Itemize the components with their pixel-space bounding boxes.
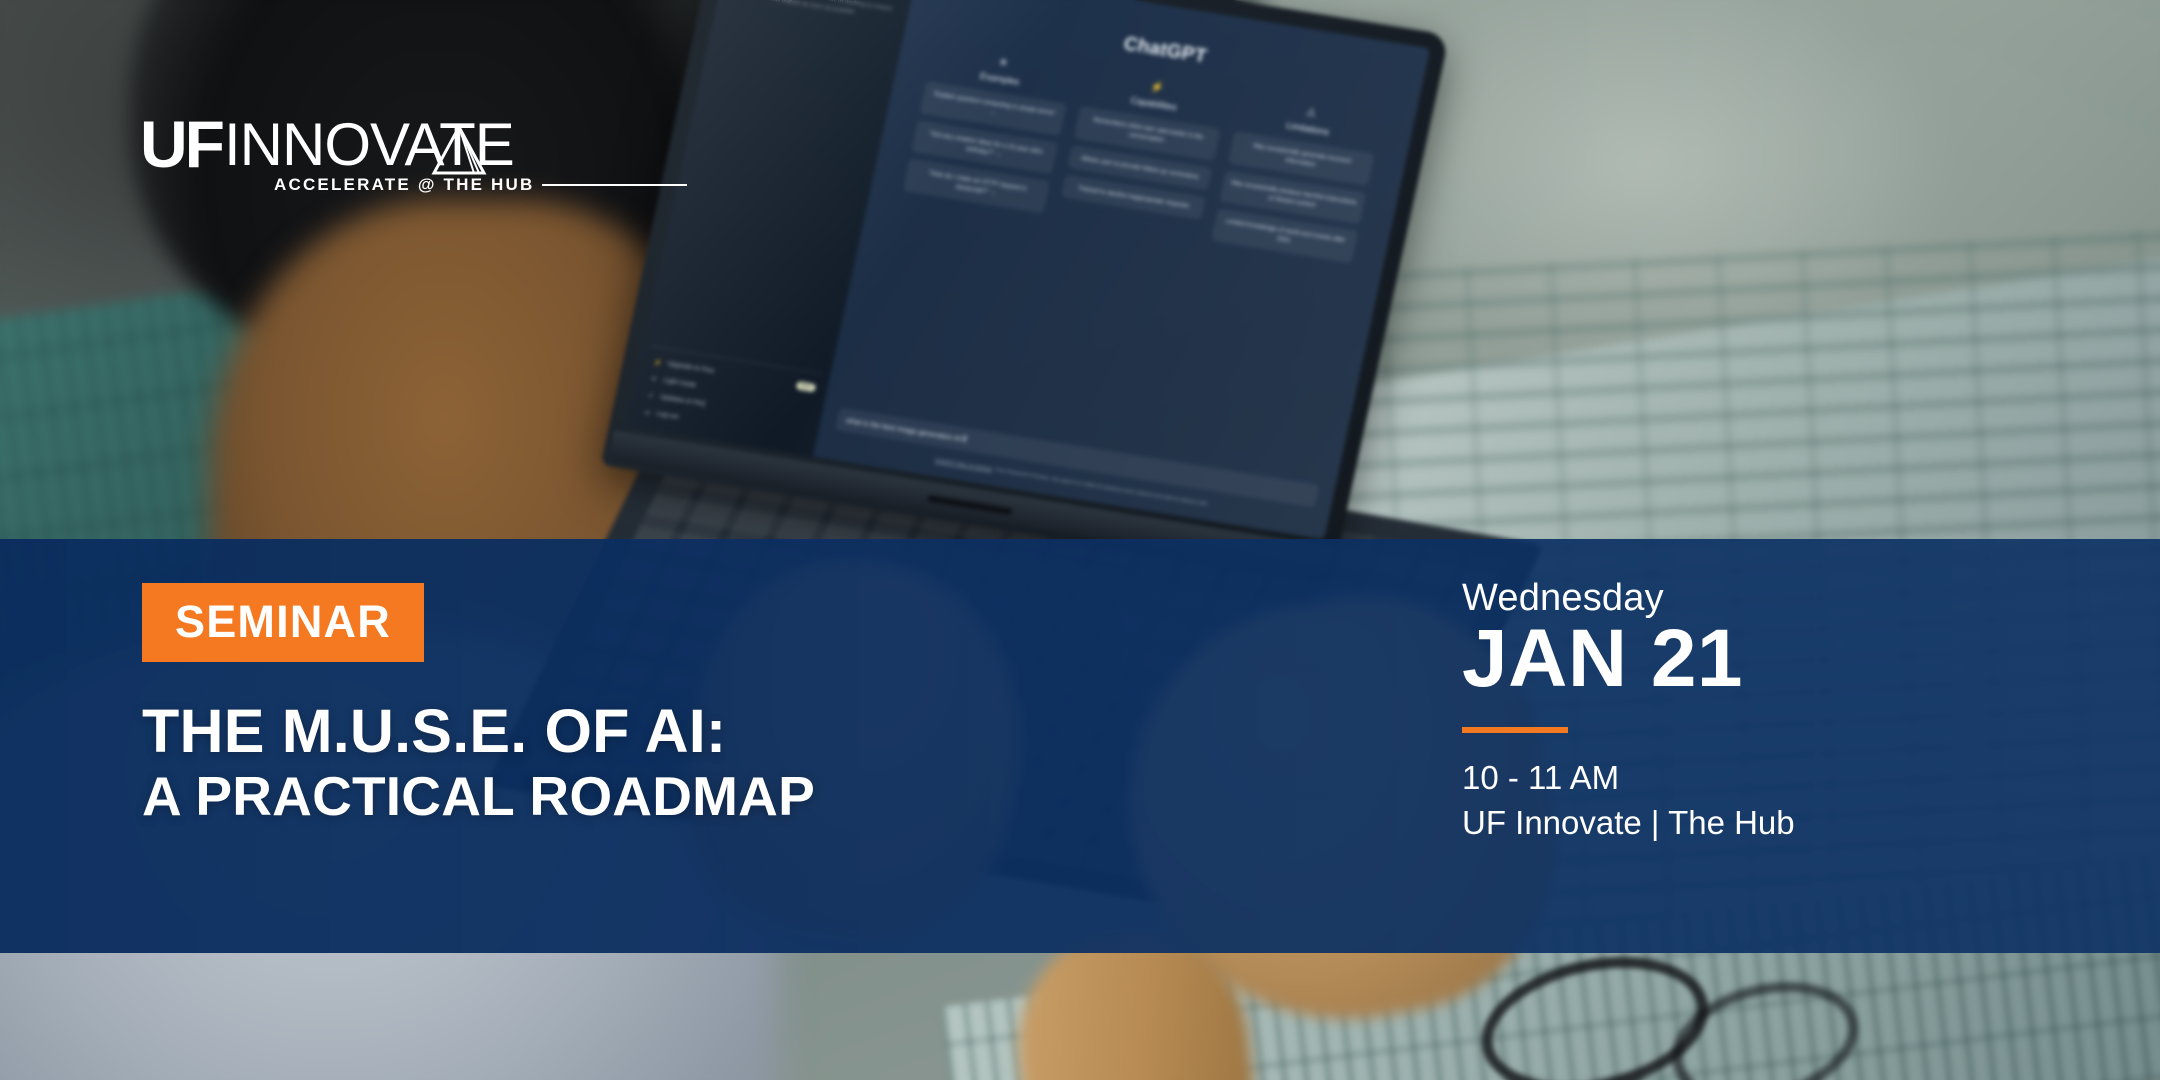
uf-innovate-logo: UF INNOVATE ACCELERATE @ THE HUB [140,118,687,195]
new-badge: NEW [795,381,816,392]
column-examples: ☀ Examples "Explain quantum computing in… [902,47,1075,220]
column-heading: Capabilities [1130,95,1178,112]
event-time: 10 - 11 AM [1462,755,1795,801]
warning-triangle-icon: ⚠ [1305,107,1317,119]
app-title: ChatGPT [1122,33,1209,68]
column-heading: Limitations [1285,120,1330,137]
title-line-1: THE M.U.S.E. OF AI: [142,697,726,765]
column-capabilities: ⚡ Capabilities Remembers what user said … [1056,72,1229,245]
sun-icon: ☀ [649,374,659,383]
logout-icon: ⇥ [642,408,652,417]
lightning-icon: ⚡ [1149,82,1165,95]
status-badge: SEMINAR [142,583,424,662]
triangle-a-mark-icon [430,121,488,179]
title-line-2: A PRACTICAL ROADMAP [142,770,815,824]
event-details-left: SEMINAR THE M.U.S.E. OF AI: A PRACTICAL … [142,583,815,824]
sun-icon: ☀ [997,57,1009,69]
column-heading: Examples [979,71,1020,87]
logo-uf-text: UF [140,118,222,171]
event-poster: + New chat History is temporarily unavai… [0,0,2160,1080]
info-band: SEMINAR THE M.U.S.E. OF AI: A PRACTICAL … [0,539,2160,953]
history-notice: History is temporarily unavailable. We'r… [726,0,902,25]
external-link-icon: ↗ [645,391,655,400]
lightning-icon: ⚡ [653,358,663,367]
event-date: JAN 21 [1462,617,1795,701]
column-limitations: ⚠ Limitations May occasionally generate … [1210,97,1383,270]
feature-columns: ☀ Examples "Explain quantum computing in… [888,45,1396,273]
logo-rule [542,184,687,186]
sidebar-footer: ⚡ Upgrade to Plus NEW ☀ Light mode ↗ Upd… [635,345,823,446]
sidebar-item-label: Updates & FAQ [659,394,706,408]
sidebar-item-label: Log out [656,410,679,420]
accent-divider [1462,727,1568,733]
event-location: UF Innovate | The Hub [1462,800,1795,846]
page-title: THE M.U.S.E. OF AI: A PRACTICAL ROADMAP [142,702,815,824]
sidebar-item-label: Light mode [663,377,697,389]
text-caret [964,435,967,443]
event-details-right: Wednesday JAN 21 10 - 11 AM UF Innovate … [1462,579,1795,846]
